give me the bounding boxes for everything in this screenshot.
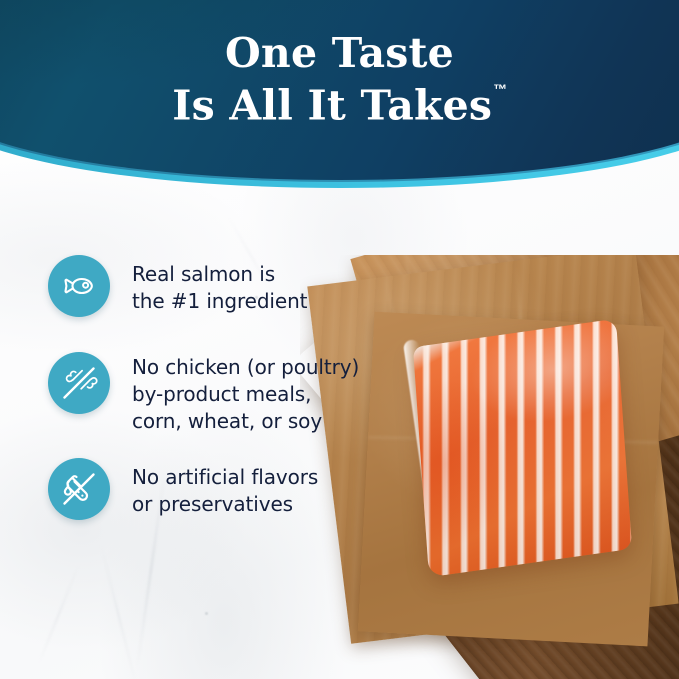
marble-speck <box>205 612 208 615</box>
headline-line-1: One Taste <box>0 30 679 77</box>
list-item: No artificial flavors or preservatives <box>48 458 318 520</box>
trademark-symbol: ™ <box>493 81 508 97</box>
list-item: Real salmon is the #1 ingredient <box>48 255 307 317</box>
list-item-label: Real salmon is the #1 ingredient <box>132 255 307 315</box>
list-item-label: No artificial flavors or preservatives <box>132 458 318 518</box>
fish-icon <box>48 255 110 317</box>
salmon-product-photo <box>300 255 679 679</box>
salmon-fillet <box>413 319 632 578</box>
product-benefits-ad: One Taste Is All It Takes™ Real salmon i… <box>0 0 679 679</box>
no-test-tube-icon <box>48 458 110 520</box>
page-title: One Taste Is All It Takes™ <box>0 30 679 130</box>
header-banner: One Taste Is All It Takes™ <box>0 0 679 215</box>
list-item: No chicken (or poultry) by-product meals… <box>48 352 359 435</box>
list-item-label: No chicken (or poultry) by-product meals… <box>132 352 359 435</box>
no-bone-icon <box>48 352 110 414</box>
headline-line-2-wrap: Is All It Takes™ <box>172 77 506 130</box>
headline-line-2: Is All It Takes <box>172 82 492 130</box>
